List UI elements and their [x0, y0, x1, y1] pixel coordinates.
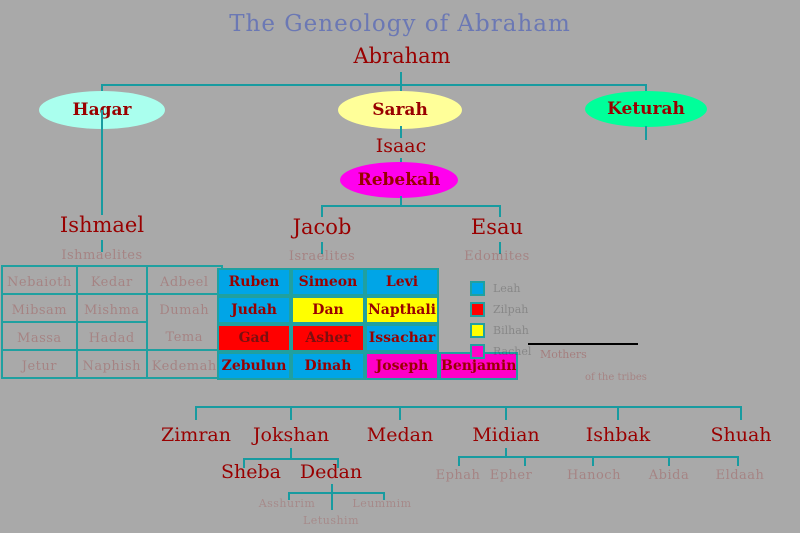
tribe-cell: Asher [291, 324, 365, 352]
node-ephah: Ephah [436, 468, 481, 483]
node-letushim: Letushim [303, 514, 359, 527]
tribe-cell: Dinah [291, 352, 365, 380]
legend: Leah Zilpah Bilhah Rachel [470, 280, 531, 364]
tribe-cell: Levi [365, 268, 439, 296]
connector-ephah-drop [458, 456, 460, 466]
tribe-cell: Judah [217, 296, 291, 324]
connector-eldaah-drop [737, 456, 739, 466]
cell-ishmael-son-tall: Dumah Tema [147, 294, 222, 350]
connector-shuah-drop [740, 406, 742, 420]
tribe-cell: Issachar [365, 324, 439, 352]
label-israelites: Israelites [289, 249, 355, 264]
cell-ishmael-son: Adbeel [147, 266, 222, 294]
legend-swatch-zilpah [470, 302, 485, 317]
connector-epher-drop [524, 456, 526, 466]
table-row: Nebaioth Kedar Adbeel [2, 266, 222, 294]
connector-midian-sons-bus [458, 456, 738, 458]
connector-keturah-bus [195, 406, 740, 408]
node-abraham: Abraham [353, 44, 450, 68]
connector-letushim-drop [331, 492, 333, 510]
node-jokshan: Jokshan [253, 424, 329, 446]
node-abida: Abida [649, 468, 689, 483]
tribe-cell: Dan [291, 296, 365, 324]
node-sarah: Sarah [338, 91, 462, 129]
node-midian: Midian [472, 424, 539, 446]
legend-swatch-bilhah [470, 323, 485, 338]
legend-swatch-leah [470, 281, 485, 296]
node-esau: Esau [471, 215, 523, 239]
node-dedan: Dedan [300, 461, 362, 483]
connector-jacob-esau-bus [321, 205, 501, 207]
cell-ishmael-son: Mishma [77, 294, 147, 322]
connector-sheba-dedan-bus [243, 458, 338, 460]
tribe-cell: Ruben [217, 268, 291, 296]
legend-note-secondary: of the tribes [585, 372, 647, 383]
connector-jokshan-drop [290, 406, 292, 420]
node-epher: Epher [490, 468, 533, 483]
legend-item: Bilhah [470, 322, 531, 339]
connector-midian-drop [505, 406, 507, 420]
table-row: Jetur Naphish Kedemah [2, 350, 222, 378]
cell-ishmael-son: Hadad [77, 322, 147, 350]
cell-ishmael-son: Massa [2, 322, 77, 350]
legend-note: Mothers [540, 348, 587, 361]
cell-ishmael-son: Kedemah [147, 350, 222, 378]
ishmael-sons-table: Nebaioth Kedar Adbeel Mibsam Mishma Duma… [1, 265, 223, 379]
node-isaac: Isaac [376, 135, 427, 157]
legend-label: Leah [493, 282, 520, 295]
node-hanoch: Hanoch [567, 468, 621, 483]
node-jacob: Jacob [293, 215, 352, 239]
node-rebekah: Rebekah [340, 162, 458, 198]
cell-ishmael-son: Nebaioth [2, 266, 77, 294]
connector-medan-drop [399, 406, 401, 420]
node-ishbak: Ishbak [586, 424, 651, 446]
cell-ishmael-son: Jetur [2, 350, 77, 378]
page-title: The Geneology of Abraham [229, 11, 571, 37]
connector-abida-drop [668, 456, 670, 466]
node-keturah-label: Keturah [607, 99, 685, 119]
cell-ishmael-son: Kedar [77, 266, 147, 294]
connector-keturah-sons [645, 126, 647, 140]
legend-item: Rachel [470, 343, 531, 360]
connector-zimran-drop [195, 406, 197, 420]
node-ishmael: Ishmael [60, 213, 144, 237]
tribe-cell: Napthali [365, 296, 439, 324]
node-leummim: Leummim [352, 497, 411, 510]
cell-ishmael-son: Mibsam [2, 294, 77, 322]
tribe-cell: Joseph [365, 352, 439, 380]
connector-hanoch-drop [592, 456, 594, 466]
node-zimran: Zimran [161, 424, 231, 446]
node-sarah-label: Sarah [372, 100, 428, 120]
node-medan: Medan [367, 424, 433, 446]
legend-label: Zilpah [493, 303, 528, 316]
node-rebekah-label: Rebekah [358, 170, 441, 190]
tribe-cell: Gad [217, 324, 291, 352]
legend-swatch-rachel [470, 344, 485, 359]
tribe-cell: Simeon [291, 268, 365, 296]
node-eldaah: Eldaah [716, 468, 765, 483]
node-asshurim: Asshurim [259, 497, 316, 510]
connector-ishbak-drop [617, 406, 619, 420]
legend-item: Leah [470, 280, 531, 297]
cell-ishmael-son: Naphish [77, 350, 147, 378]
node-sheba: Sheba [221, 461, 281, 483]
node-shuah: Shuah [710, 424, 771, 446]
legend-label: Bilhah [493, 324, 529, 337]
connector-wives-bus [101, 84, 646, 86]
tribe-cell: Zebulun [217, 352, 291, 380]
legend-label: Rachel [493, 345, 531, 358]
table-row: Mibsam Mishma Dumah Tema [2, 294, 222, 322]
connector-hagar-ishmael [101, 110, 103, 215]
label-ishmaelites: Ishmaelites [61, 248, 142, 263]
legend-divider [528, 343, 638, 345]
connector-dedan-sons-bus [288, 492, 383, 494]
node-keturah: Keturah [585, 91, 707, 127]
label-edomites: Edomites [464, 249, 530, 264]
legend-item: Zilpah [470, 301, 531, 318]
